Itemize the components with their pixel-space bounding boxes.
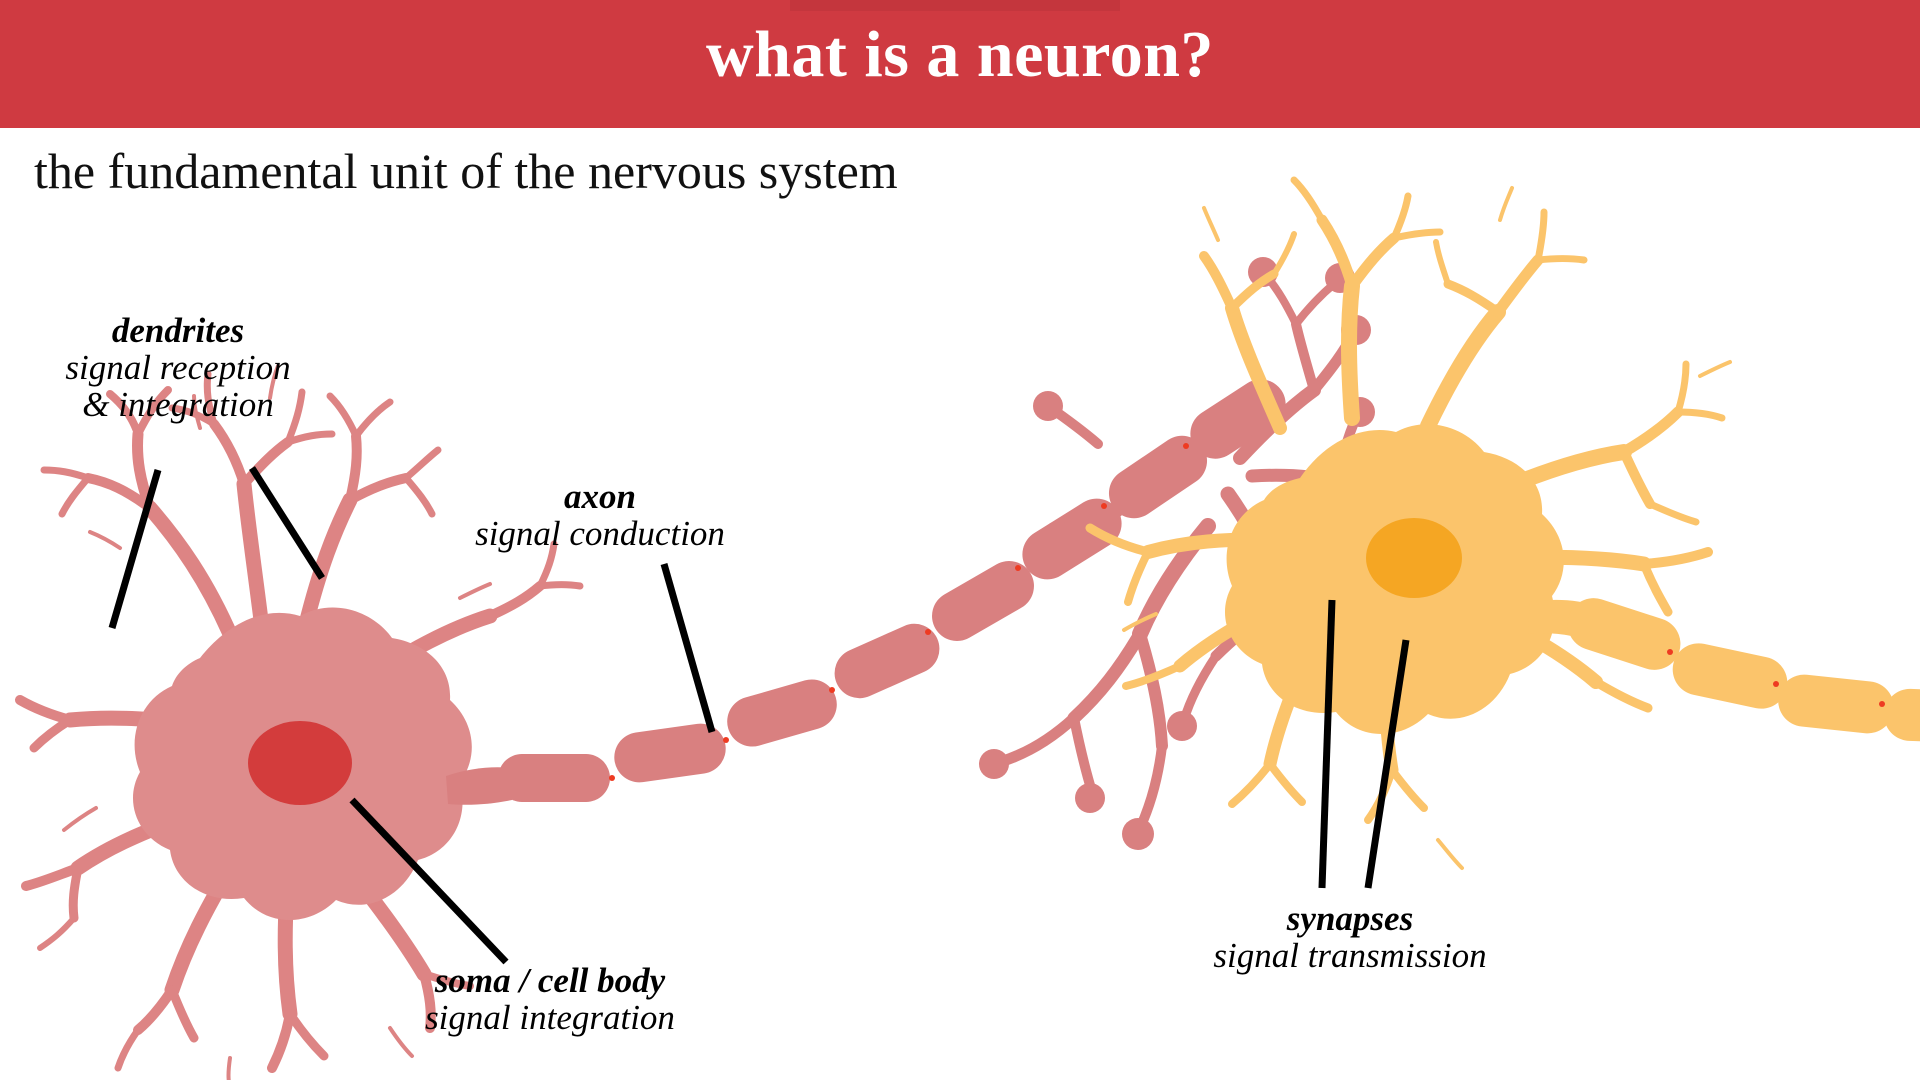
label-synapses: synapses signal transmission [1150,900,1550,974]
label-soma: soma / cell body signal integration [350,962,750,1036]
label-axon-term: axon [430,478,770,515]
page-title: what is a neuron? [0,14,1920,97]
label-axon-desc-1: signal conduction [430,515,770,552]
label-dendrites: dendrites signal reception & integration [18,312,338,423]
label-dendrites-term: dendrites [18,312,338,349]
title-banner: what is a neuron? [0,0,1920,128]
label-synapses-desc-1: signal transmission [1150,937,1550,974]
yellow-nucleus [1366,518,1462,598]
pink-nucleus-ellipse [248,721,352,805]
slide-root: what is a neuron? the fundamental unit o… [0,0,1920,1080]
label-dendrites-desc-1: signal reception [18,349,338,386]
label-synapses-term: synapses [1150,900,1550,937]
label-axon: axon signal conduction [430,478,770,552]
label-soma-term: soma / cell body [350,962,750,999]
banner-notch-decoration [790,0,1120,11]
label-soma-desc-1: signal integration [350,999,750,1036]
label-dendrites-desc-2: & integration [18,386,338,423]
neuron-diagram [0,128,1920,1080]
neuron-illustration-svg [0,128,1920,1080]
